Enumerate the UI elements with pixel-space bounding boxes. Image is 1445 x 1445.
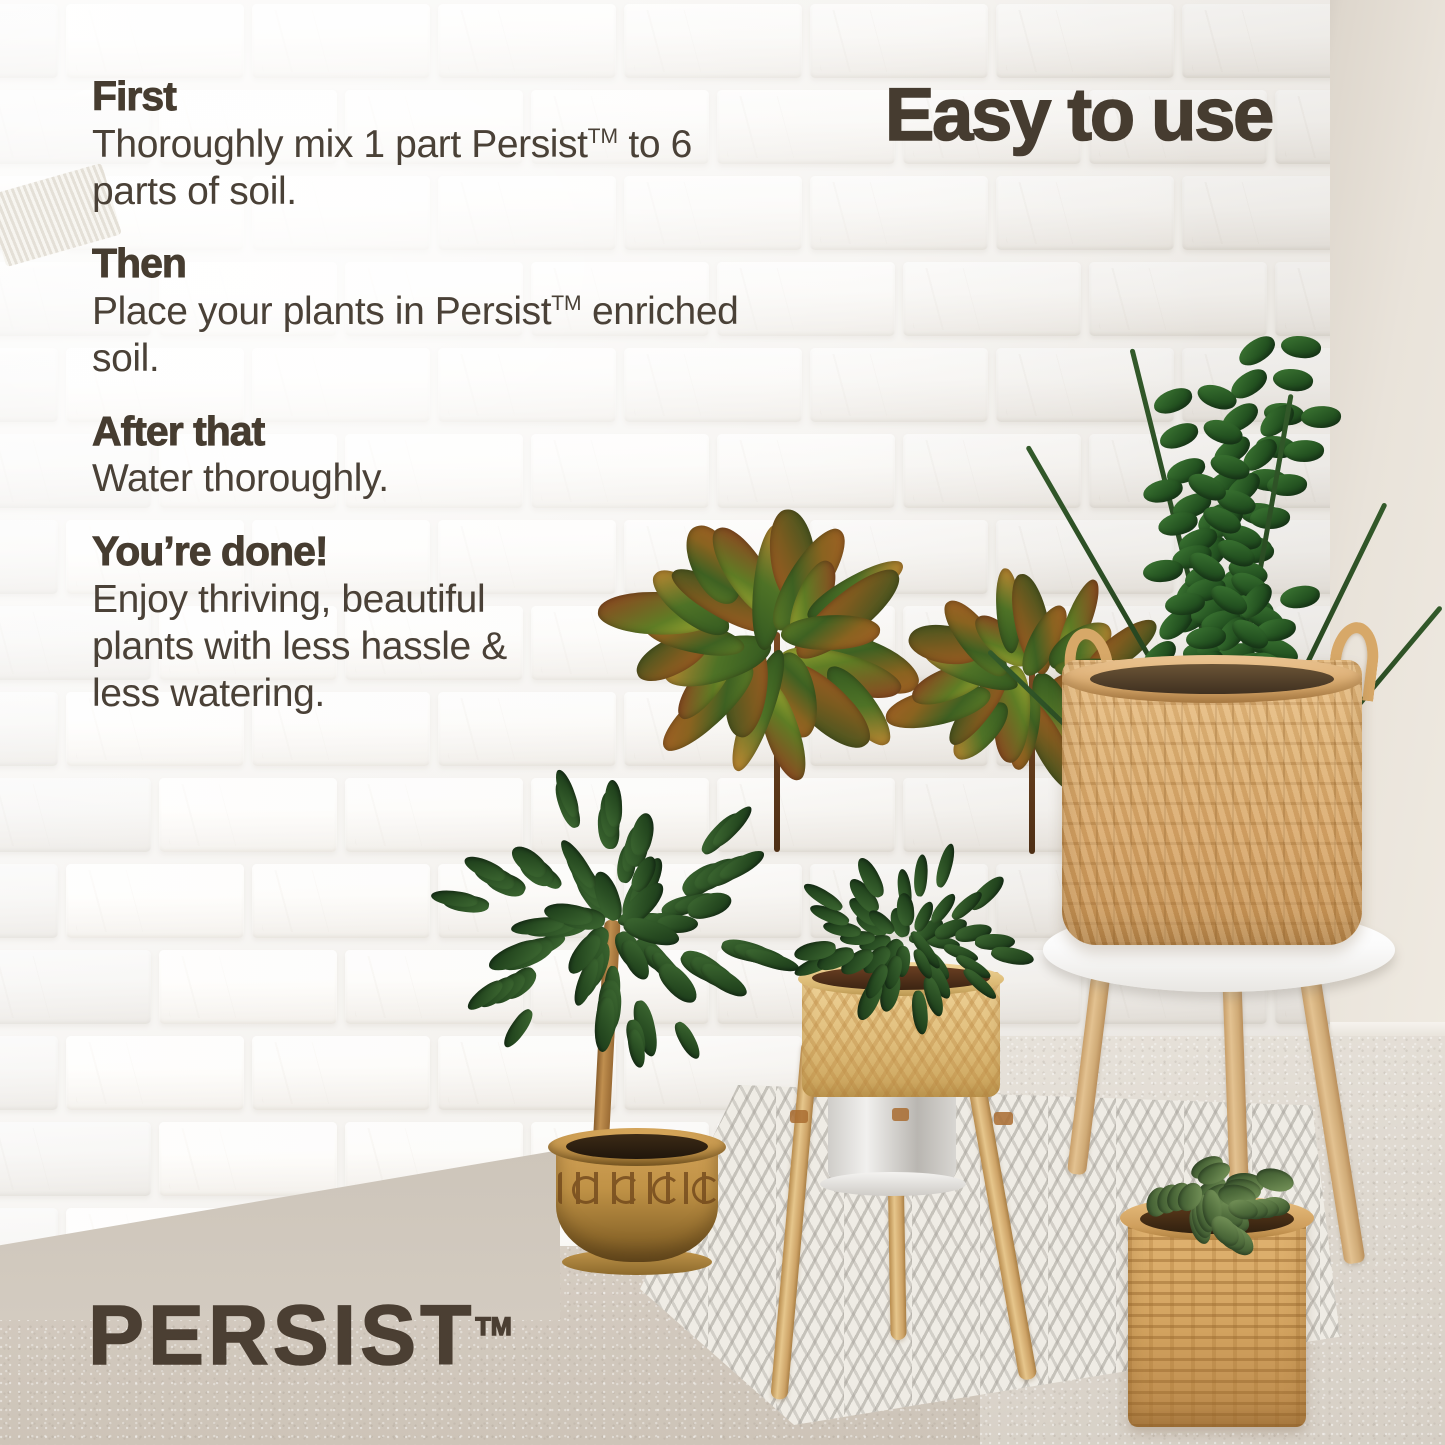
- brick: [66, 864, 244, 938]
- brick: [624, 4, 802, 78]
- brick: [252, 1036, 430, 1110]
- headline-easy-to-use: Easy to use: [885, 78, 1272, 152]
- stand-plant-leaf: [896, 892, 915, 926]
- zz-leaflet: [1271, 366, 1314, 395]
- brick: [996, 176, 1174, 250]
- step-title: After that: [92, 409, 752, 455]
- brick: [66, 1036, 244, 1110]
- brick: [252, 864, 430, 938]
- brick: [810, 348, 988, 422]
- stand-plant-leaf: [990, 944, 1035, 969]
- brick: [159, 950, 337, 1024]
- zz-leaflet: [1300, 405, 1341, 429]
- terracotta-spiral-motif: [652, 1176, 680, 1204]
- brick: [1275, 90, 1330, 164]
- terracotta-pattern-band: [558, 1172, 716, 1204]
- step-item-2: Then Place your plants in PersistTM enri…: [92, 241, 752, 382]
- brick: [810, 176, 988, 250]
- ficus-leaf: [716, 847, 768, 885]
- step-body-text: Place your plants in Persist: [92, 290, 551, 333]
- brick: [0, 950, 151, 1024]
- instruction-steps-list: First Thoroughly mix 1 part PersistTM to…: [92, 74, 752, 743]
- step-body: Place your plants in PersistTM enriched …: [92, 288, 752, 382]
- step-item-1: First Thoroughly mix 1 part PersistTM to…: [92, 74, 752, 215]
- small-ficus-in-stand: [800, 820, 1030, 1000]
- ficus-leaf: [743, 944, 801, 976]
- brick: [0, 348, 58, 422]
- bamboo-leg-tie: [892, 1108, 909, 1121]
- step-title: You’re done!: [92, 529, 522, 575]
- wicker-basket: [1128, 1212, 1306, 1427]
- brick: [0, 520, 58, 594]
- brick: [0, 4, 58, 78]
- zz-leaflet: [1279, 332, 1322, 361]
- brick: [0, 778, 151, 852]
- terracotta-spiral-motif: [572, 1176, 600, 1204]
- brick: [159, 778, 337, 852]
- step-body: Thoroughly mix 1 part PersistTM to 6 par…: [92, 121, 752, 215]
- ficus-leaf: [499, 1006, 537, 1050]
- step-body-text: Water thoroughly.: [92, 457, 389, 500]
- brick: [0, 692, 58, 766]
- pot-saucer: [820, 1172, 966, 1196]
- brick: [66, 4, 244, 78]
- brick: [438, 4, 616, 78]
- step-body: Enjoy thriving, beautiful plants with le…: [92, 576, 522, 718]
- brick: [252, 4, 430, 78]
- brand-name: PERSIST: [88, 1288, 475, 1382]
- zz-leaflet: [1157, 420, 1202, 453]
- jade-succulent-plant: [1140, 1130, 1320, 1240]
- trademark-symbol: TM: [588, 125, 618, 148]
- step-title: First: [92, 74, 752, 120]
- brick: [0, 1036, 58, 1110]
- trademark-symbol: TM: [475, 1313, 511, 1341]
- stand-plant-leaf: [933, 842, 959, 889]
- terracotta-pot-soil: [566, 1134, 708, 1159]
- zz-leaflet: [1151, 385, 1196, 418]
- trademark-symbol: TM: [551, 292, 581, 315]
- step-title: Then: [92, 241, 752, 287]
- brand-logo-persist: PERSISTTM: [88, 1293, 512, 1377]
- metal-inner-pot: [828, 1090, 956, 1182]
- product-infographic-poster: Easy to use First Thoroughly mix 1 part …: [0, 0, 1445, 1445]
- stand-plant-leaf: [913, 854, 930, 897]
- zz-leaflet: [1143, 559, 1184, 582]
- step-item-4: You’re done! Enjoy thriving, beautiful p…: [92, 529, 522, 717]
- brick: [1182, 176, 1330, 250]
- terracotta-spiral-motif: [612, 1176, 640, 1204]
- bamboo-leg-tie: [994, 1112, 1013, 1125]
- brick: [0, 864, 58, 938]
- step-body-text: Enjoy thriving, beautiful plants with le…: [92, 578, 507, 715]
- step-body-text: Thoroughly mix 1 part Persist: [92, 123, 588, 166]
- step-item-3: After that Water thoroughly.: [92, 409, 752, 503]
- brick: [0, 1122, 151, 1196]
- brick: [159, 1122, 337, 1196]
- terracotta-spiral-motif: [692, 1176, 720, 1204]
- basket-interior: [1090, 664, 1334, 694]
- ficus-leaf: [671, 1018, 703, 1061]
- step-body: Water thoroughly.: [92, 455, 752, 502]
- brick: [1182, 4, 1330, 78]
- zz-leaflet: [1234, 332, 1280, 371]
- zz-leaflet: [1284, 439, 1325, 463]
- brick: [996, 4, 1174, 78]
- zz-leaflet: [1279, 584, 1321, 609]
- bamboo-leg-tie: [790, 1110, 808, 1123]
- brick: [810, 4, 988, 78]
